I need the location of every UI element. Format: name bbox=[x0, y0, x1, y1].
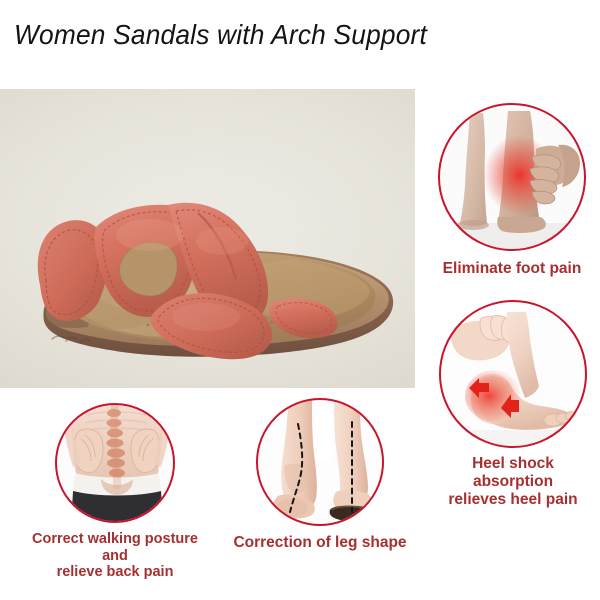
callout-circle bbox=[439, 300, 587, 448]
callout-foot-pain: Eliminate foot pain bbox=[434, 103, 590, 278]
callout-label: Eliminate foot pain bbox=[434, 260, 590, 278]
infographic-page: Women Sandals with Arch Support bbox=[0, 0, 600, 600]
leg-alignment-icon bbox=[258, 400, 382, 524]
callout-leg-shape: Correction of leg shape bbox=[222, 398, 418, 552]
product-photo bbox=[0, 89, 415, 388]
heel-shock-absorption-icon bbox=[441, 302, 585, 446]
callout-heel-shock: Heel shock absorption relieves heel pain bbox=[430, 300, 596, 508]
callout-circle bbox=[256, 398, 384, 526]
page-title: Women Sandals with Arch Support bbox=[14, 16, 550, 58]
callout-label: Correction of leg shape bbox=[222, 534, 418, 552]
lower-back-spine-icon bbox=[57, 405, 173, 521]
hand-holding-painful-foot-icon bbox=[440, 105, 584, 249]
callout-label: Correct walking posture and relieve back… bbox=[20, 531, 210, 581]
callout-back-pain: Correct walking posture and relieve back… bbox=[20, 403, 210, 581]
callout-circle bbox=[438, 103, 586, 251]
callout-circle bbox=[55, 403, 175, 523]
sandal-illustration bbox=[0, 89, 415, 388]
callout-label: Heel shock absorption relieves heel pain bbox=[430, 455, 596, 508]
